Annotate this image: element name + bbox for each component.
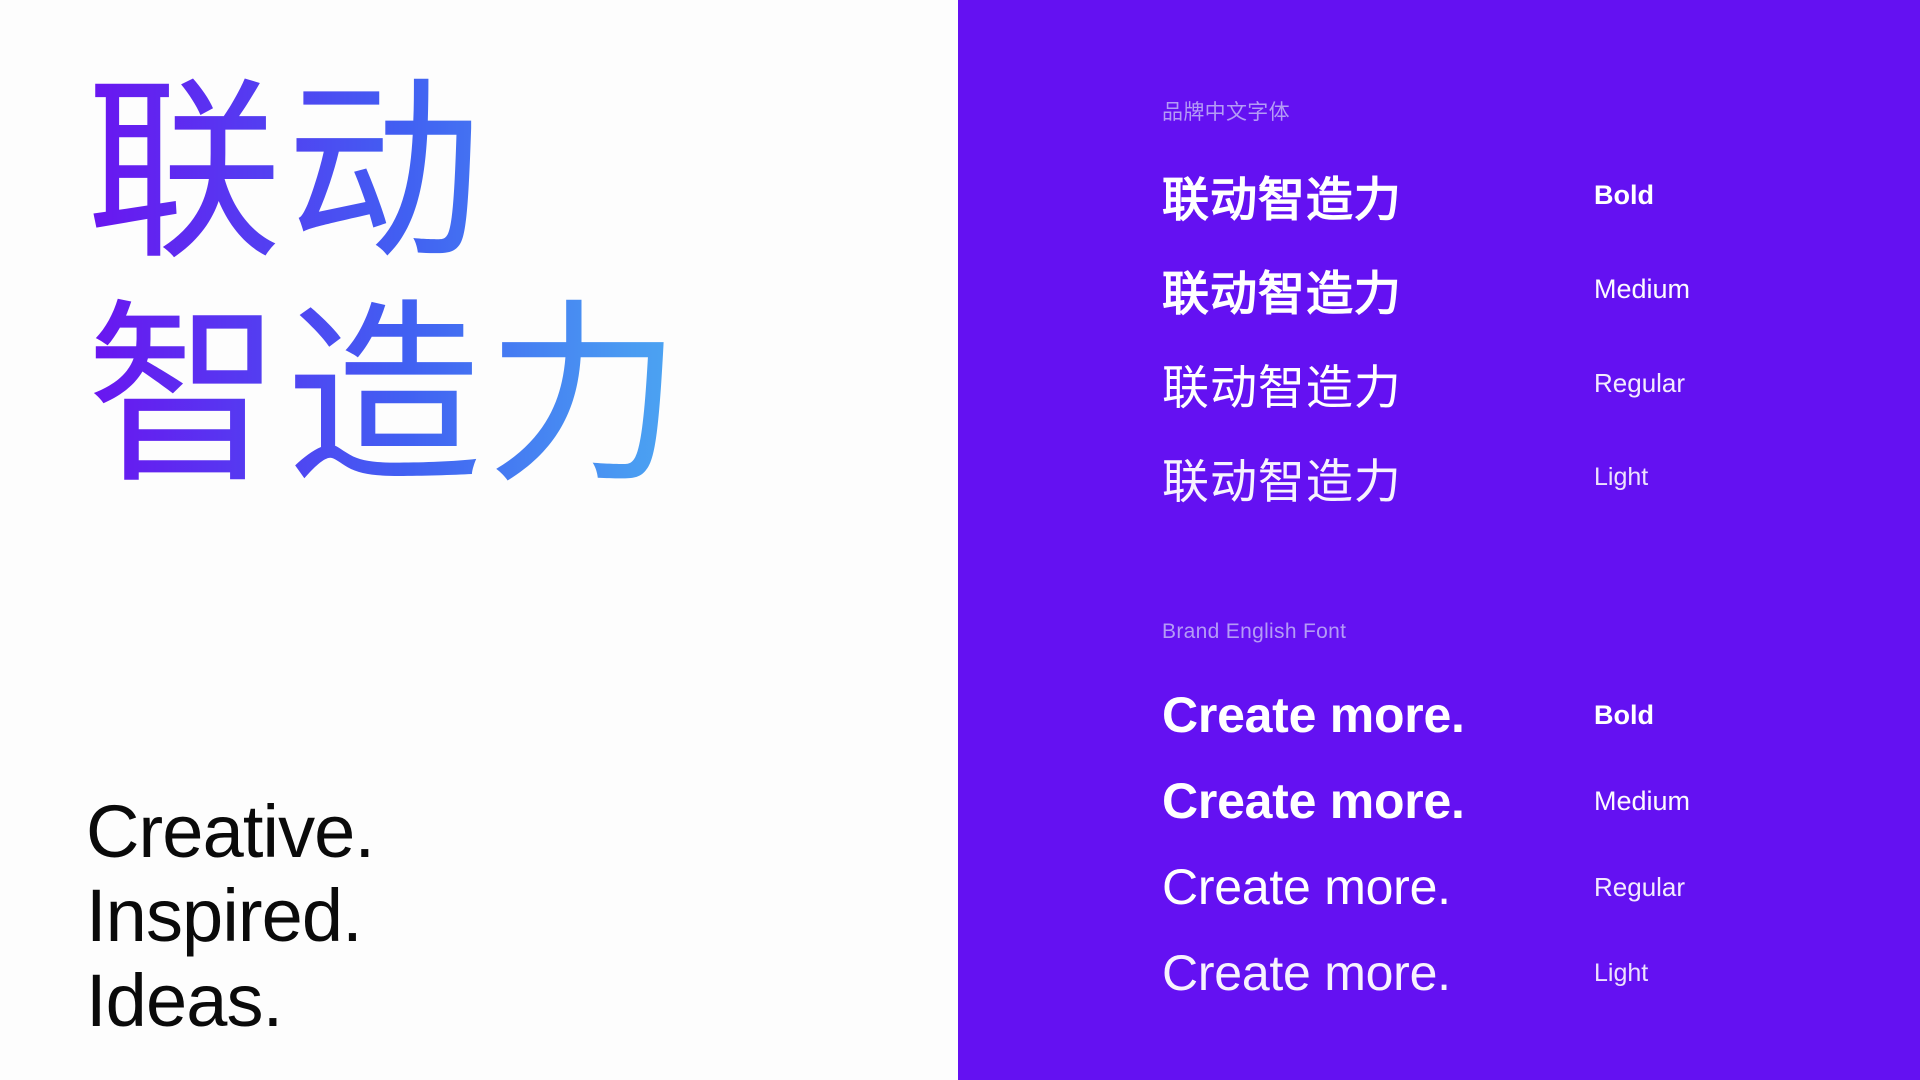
specimen-row: 联动智造力 Bold <box>958 148 1920 242</box>
specimen-sample: 联动智造力 <box>1162 255 1402 324</box>
specimen-sample: 联动智造力 <box>1162 161 1402 230</box>
specimen-sample: 联动智造力 <box>1162 349 1402 418</box>
specimen-weight-label: Light <box>1594 463 1648 492</box>
specimen-row: Create more. Regular <box>958 844 1920 930</box>
specimen-weight-label: Medium <box>1594 786 1690 817</box>
specimen-row: Create more. Light <box>958 930 1920 1016</box>
hero-wordmark: 联动 智造力 <box>86 72 846 498</box>
specimen-sample: Create more. <box>1162 772 1465 830</box>
section-label-english: Brand English Font <box>1162 620 1346 644</box>
specimen-sample: 联动智造力 <box>1162 443 1402 512</box>
specimen-row: Create more. Bold <box>958 672 1920 758</box>
specimen-sample: Create more. <box>1162 944 1451 1002</box>
specimen-row: 联动智造力 Light <box>958 430 1920 524</box>
tagline-block: Creative. Inspired. Ideas. <box>86 790 374 1043</box>
specimen-row: 联动智造力 Medium <box>958 242 1920 336</box>
specimen-list-english: Create more. Bold Create more. Medium Cr… <box>958 672 1920 1016</box>
tagline-line-2: Inspired. <box>86 874 374 958</box>
specimen-weight-label: Bold <box>1594 700 1654 731</box>
specimen-weight-label: Regular <box>1594 872 1685 903</box>
left-panel: 联动 智造力 Creative. Inspired. Ideas. <box>0 0 958 1080</box>
section-label-chinese: 品牌中文字体 <box>1162 96 1290 126</box>
specimen-weight-label: Bold <box>1594 180 1654 211</box>
hero-line-1: 联动 <box>86 72 846 274</box>
specimen-sample: Create more. <box>1162 686 1465 744</box>
specimen-row: Create more. Medium <box>958 758 1920 844</box>
specimen-weight-label: Regular <box>1594 368 1685 399</box>
typography-specimen-board: 联动 智造力 Creative. Inspired. Ideas. 品牌中文字体… <box>0 0 1920 1080</box>
specimen-weight-label: Light <box>1594 959 1648 988</box>
tagline-line-3: Ideas. <box>86 959 374 1043</box>
specimen-row: 联动智造力 Regular <box>958 336 1920 430</box>
specimen-sample: Create more. <box>1162 858 1451 916</box>
right-panel: 品牌中文字体 联动智造力 Bold 联动智造力 Medium 联动智造力 Reg… <box>958 0 1920 1080</box>
specimen-list-chinese: 联动智造力 Bold 联动智造力 Medium 联动智造力 Regular 联动… <box>958 148 1920 524</box>
hero-line-2: 智造力 <box>86 296 846 498</box>
specimen-weight-label: Medium <box>1594 274 1690 305</box>
tagline-line-1: Creative. <box>86 790 374 874</box>
